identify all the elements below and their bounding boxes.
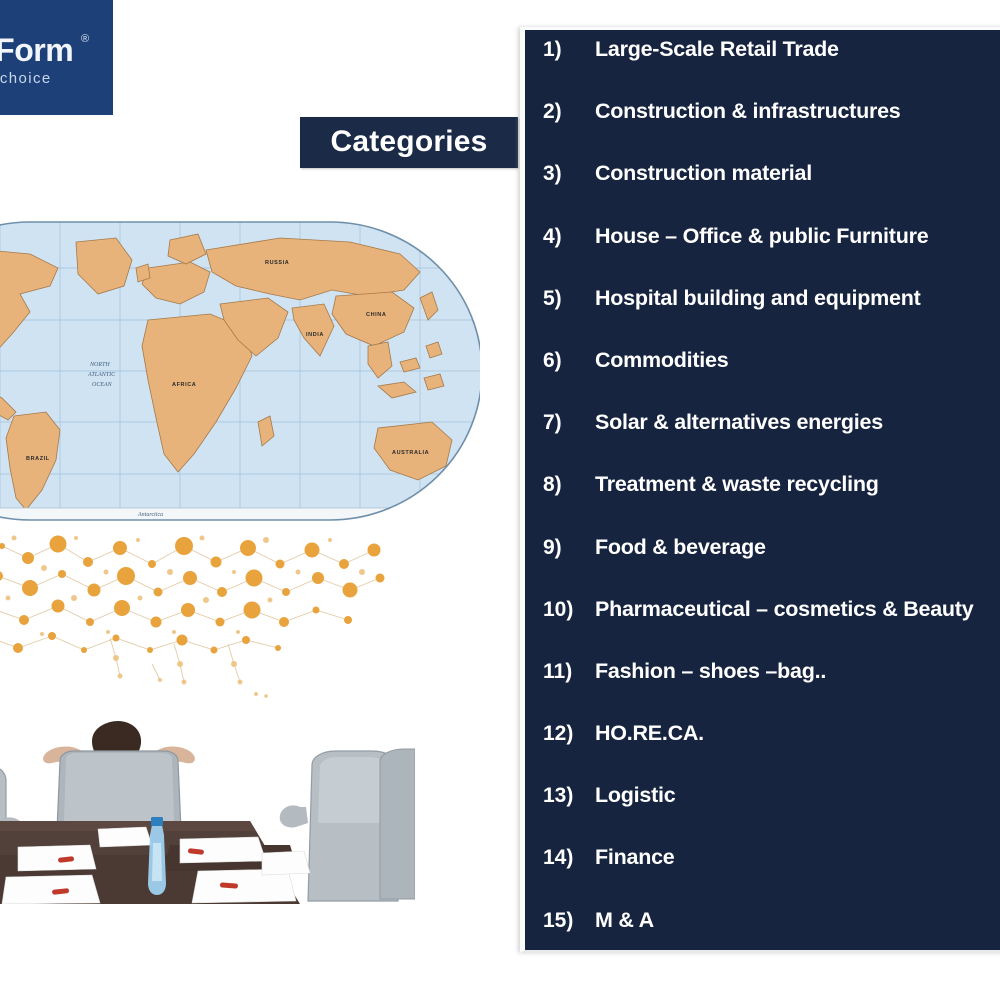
category-number: 15): [543, 909, 595, 933]
category-item-15[interactable]: 15) M & A: [525, 908, 1000, 970]
category-number: 3): [543, 162, 595, 186]
logo-wordmark: ...Form: [0, 32, 73, 69]
category-label: Pharmaceutical – cosmetics & Beauty: [595, 597, 973, 622]
category-label: House – Office & public Furniture: [595, 224, 928, 249]
category-number: 4): [543, 225, 595, 249]
category-item-2[interactable]: 2) Construction & infrastructures: [525, 99, 1000, 161]
logo-tagline: ...t choice: [0, 70, 52, 87]
svg-text:CHINA: CHINA: [366, 312, 386, 318]
slide-canvas: ...Form ® ...t choice Categories: [0, 0, 1000, 1000]
category-label: Hospital building and equipment: [595, 286, 921, 311]
category-number: 12): [543, 722, 595, 746]
category-item-4[interactable]: 4) House – Office & public Furniture: [525, 224, 1000, 286]
registered-trademark-icon: ®: [81, 33, 89, 45]
svg-text:NORTH: NORTH: [89, 362, 110, 368]
conference-room-photo: [0, 703, 415, 904]
category-number: 9): [543, 536, 595, 560]
category-item-14[interactable]: 14) Finance: [525, 845, 1000, 907]
svg-text:Antarctica: Antarctica: [137, 512, 163, 518]
category-item-1[interactable]: 1) Large-Scale Retail Trade: [525, 37, 1000, 99]
category-label: Construction & infrastructures: [595, 99, 900, 124]
category-number: 10): [543, 598, 595, 622]
category-number: 1): [543, 38, 595, 62]
category-label: Food & beverage: [595, 535, 766, 560]
svg-text:INDIA: INDIA: [306, 332, 324, 338]
svg-text:OCEAN: OCEAN: [92, 382, 113, 388]
page-title: Categories: [300, 125, 518, 159]
category-item-6[interactable]: 6) Commodities: [525, 348, 1000, 410]
category-label: M & A: [595, 908, 654, 933]
svg-text:BRAZIL: BRAZIL: [26, 456, 50, 462]
category-number: 13): [543, 784, 595, 808]
svg-text:ATLANTIC: ATLANTIC: [87, 372, 116, 378]
category-number: 5): [543, 287, 595, 311]
category-number: 2): [543, 100, 595, 124]
svg-text:AUSTRALIA: AUSTRALIA: [392, 450, 429, 456]
category-item-7[interactable]: 7) Solar & alternatives energies: [525, 410, 1000, 472]
category-label: Treatment & waste recycling: [595, 472, 879, 497]
category-item-3[interactable]: 3) Construction material: [525, 161, 1000, 223]
category-item-8[interactable]: 8) Treatment & waste recycling: [525, 472, 1000, 534]
category-label: Large-Scale Retail Trade: [595, 37, 839, 62]
category-label: HO.RE.CA.: [595, 721, 704, 746]
category-item-5[interactable]: 5) Hospital building and equipment: [525, 286, 1000, 348]
page-title-box: Categories: [300, 117, 518, 168]
category-label: Construction material: [595, 161, 812, 186]
svg-text:AFRICA: AFRICA: [172, 382, 196, 388]
category-item-10[interactable]: 10) Pharmaceutical – cosmetics & Beauty: [525, 597, 1000, 659]
category-label: Commodities: [595, 348, 728, 373]
world-map-image: RUSSIA CANADA UNITED STATES BRAZIL AUSTR…: [0, 216, 480, 526]
category-label: Fashion – shoes –bag..: [595, 659, 826, 684]
category-item-13[interactable]: 13) Logistic: [525, 783, 1000, 845]
category-label: Solar & alternatives energies: [595, 410, 883, 435]
category-number: 7): [543, 411, 595, 435]
category-item-11[interactable]: 11) Fashion – shoes –bag..: [525, 659, 1000, 721]
categories-list-panel: 1) Large-Scale Retail Trade 2) Construct…: [520, 27, 1000, 953]
category-label: Logistic: [595, 783, 675, 808]
category-item-9[interactable]: 9) Food & beverage: [525, 535, 1000, 597]
category-label: Finance: [595, 845, 675, 870]
category-number: 14): [543, 846, 595, 870]
category-number: 11): [543, 660, 595, 684]
category-number: 8): [543, 473, 595, 497]
company-logo: ...Form ® ...t choice: [0, 0, 113, 115]
category-number: 6): [543, 349, 595, 373]
dot-network-graphic: [0, 524, 400, 704]
category-item-12[interactable]: 12) HO.RE.CA.: [525, 721, 1000, 783]
svg-text:RUSSIA: RUSSIA: [265, 260, 289, 266]
